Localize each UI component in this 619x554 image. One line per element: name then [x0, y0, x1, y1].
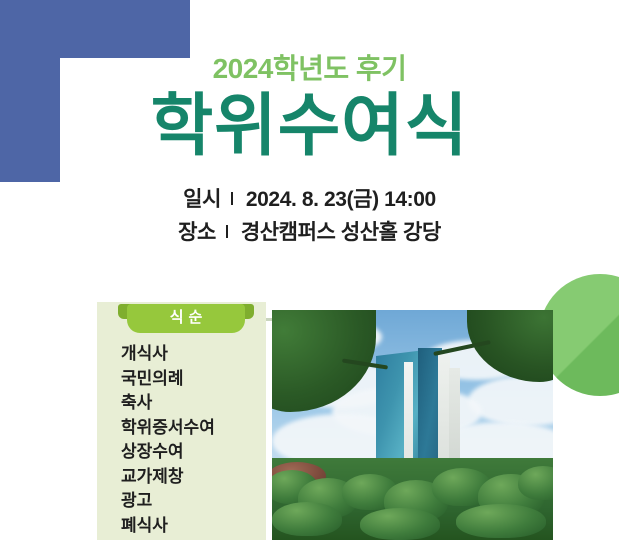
location-value: 경산캠퍼스 성산홀 강당: [241, 221, 441, 244]
shrub-shape: [360, 508, 440, 540]
shrub-shape: [518, 466, 553, 500]
shrub-shape: [272, 502, 342, 536]
list-item: 축사: [121, 391, 241, 416]
event-location-row: 장소 경산캠퍼스 성산홀 강당: [0, 217, 619, 250]
event-datetime-row: 일시 2024. 8. 23(금) 14:00: [0, 184, 619, 217]
list-item: 국민의례: [121, 367, 241, 392]
list-item: 상장수여: [121, 440, 241, 465]
graduation-ceremony-poster: 2024학년도 후기 학위수여식 일시 2024. 8. 23(금) 14:00…: [0, 0, 619, 554]
program-panel: 식순 개식사 국민의례 축사 학위증서수여 상장수여 교가제창 광고 폐식사: [97, 302, 266, 540]
program-list: 개식사 국민의례 축사 학위증서수여 상장수여 교가제창 광고 폐식사: [121, 342, 241, 538]
event-details: 일시 2024. 8. 23(금) 14:00 장소 경산캠퍼스 성산홀 강당: [0, 184, 619, 249]
shrub-shape: [456, 504, 546, 538]
list-item: 광고: [121, 489, 241, 514]
location-label: 장소: [178, 221, 216, 244]
poster-title: 학위수여식: [0, 91, 619, 162]
poster-subtitle: 2024학년도 후기: [0, 54, 619, 85]
datetime-label: 일시: [183, 188, 221, 211]
separator-bar-icon: [231, 192, 233, 205]
list-item: 폐식사: [121, 514, 241, 539]
program-heading: 식순: [127, 304, 245, 333]
list-item: 교가제창: [121, 465, 241, 490]
separator-bar-icon: [226, 225, 228, 238]
program-ribbon-banner: 식순: [127, 304, 245, 333]
datetime-value: 2024. 8. 23(금) 14:00: [246, 188, 436, 211]
list-item: 개식사: [121, 342, 241, 367]
poster-header: 2024학년도 후기 학위수여식 일시 2024. 8. 23(금) 14:00…: [0, 0, 619, 249]
campus-building-photo: [272, 310, 553, 540]
list-item: 학위증서수여: [121, 416, 241, 441]
poster-body: 식순 개식사 국민의례 축사 학위증서수여 상장수여 교가제창 광고 폐식사: [97, 302, 553, 540]
